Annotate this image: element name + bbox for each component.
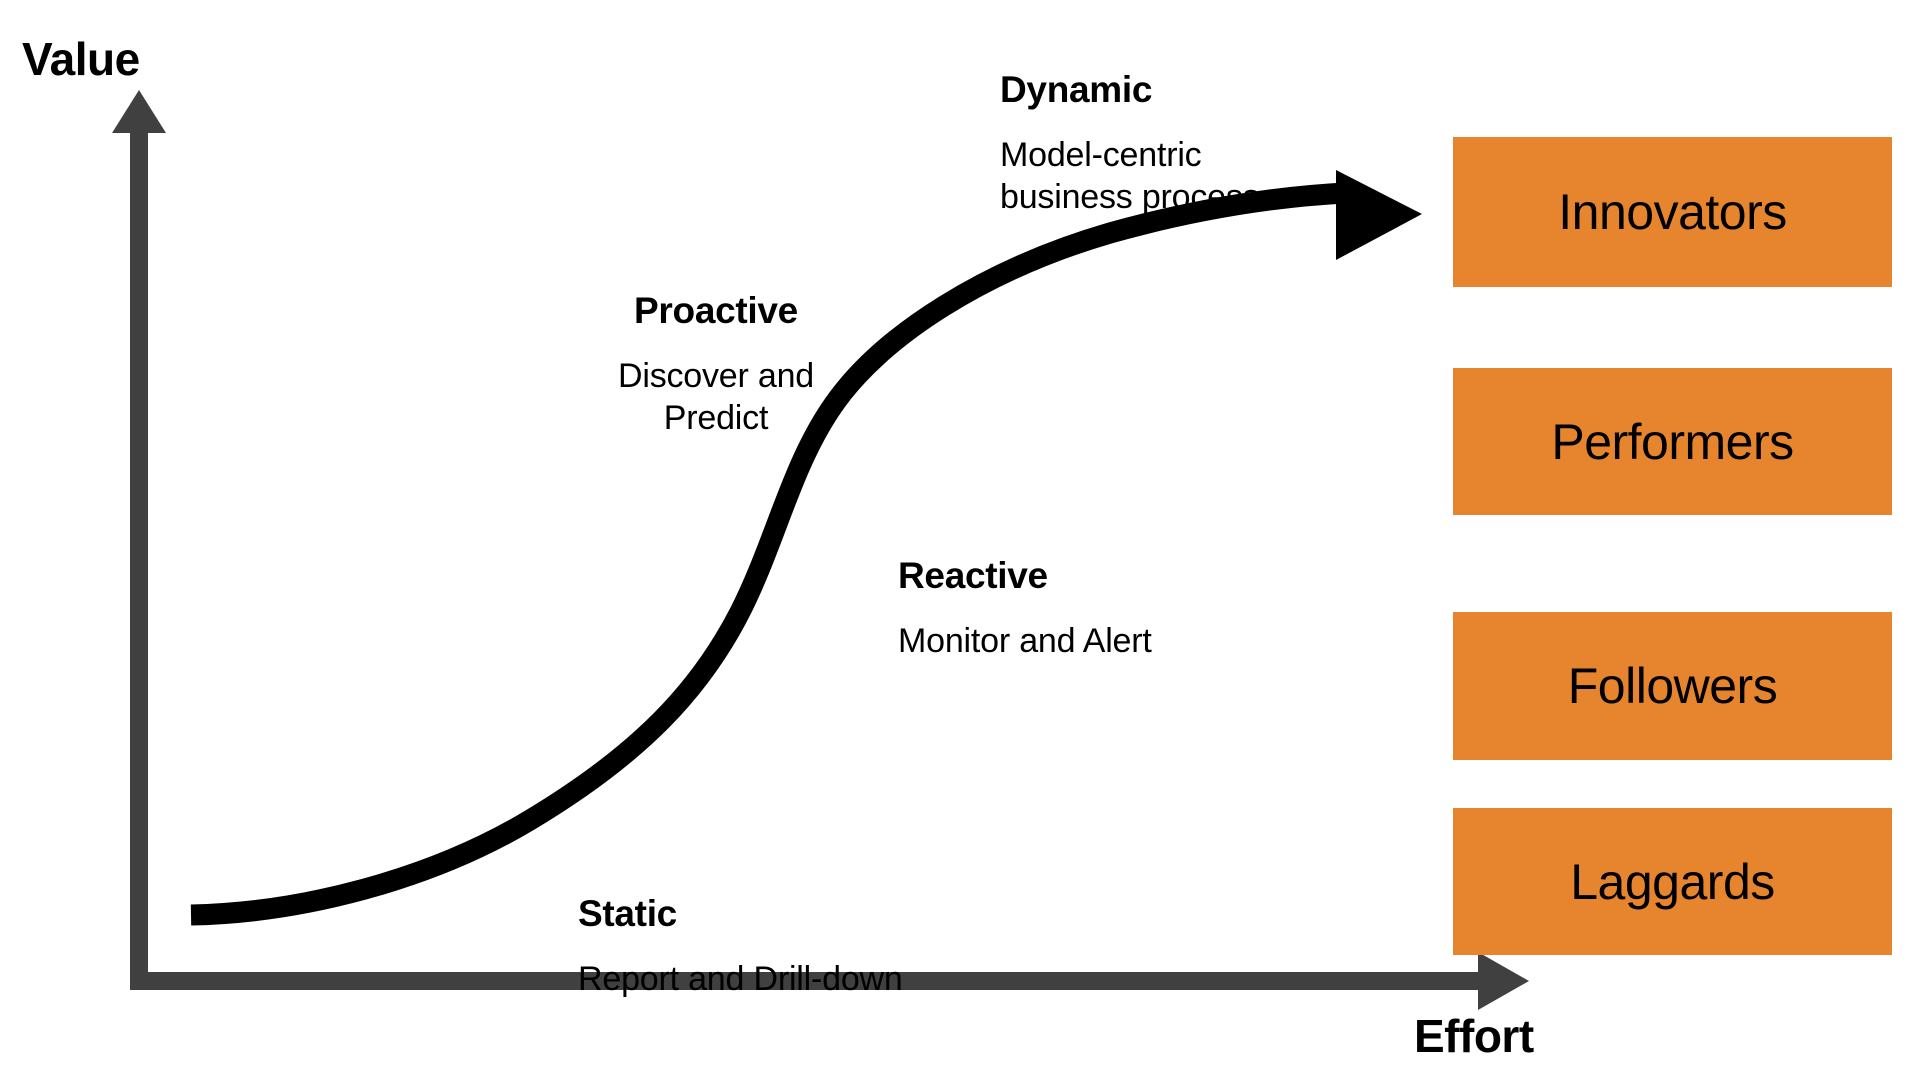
segment-box-label: Innovators [1558,187,1786,237]
diagram-canvas: Value Effort Dynamic Model-centric busin… [0,0,1920,1069]
segment-box-list: Innovators Performers Followers Laggards [0,0,1920,1069]
segment-box-laggards[interactable]: Laggards [1453,808,1892,955]
segment-box-label: Followers [1568,661,1777,711]
segment-box-performers[interactable]: Performers [1453,368,1892,515]
segment-box-followers[interactable]: Followers [1453,612,1892,760]
segment-box-innovators[interactable]: Innovators [1453,137,1892,287]
segment-box-label: Laggards [1570,857,1775,907]
segment-box-label: Performers [1551,417,1793,467]
